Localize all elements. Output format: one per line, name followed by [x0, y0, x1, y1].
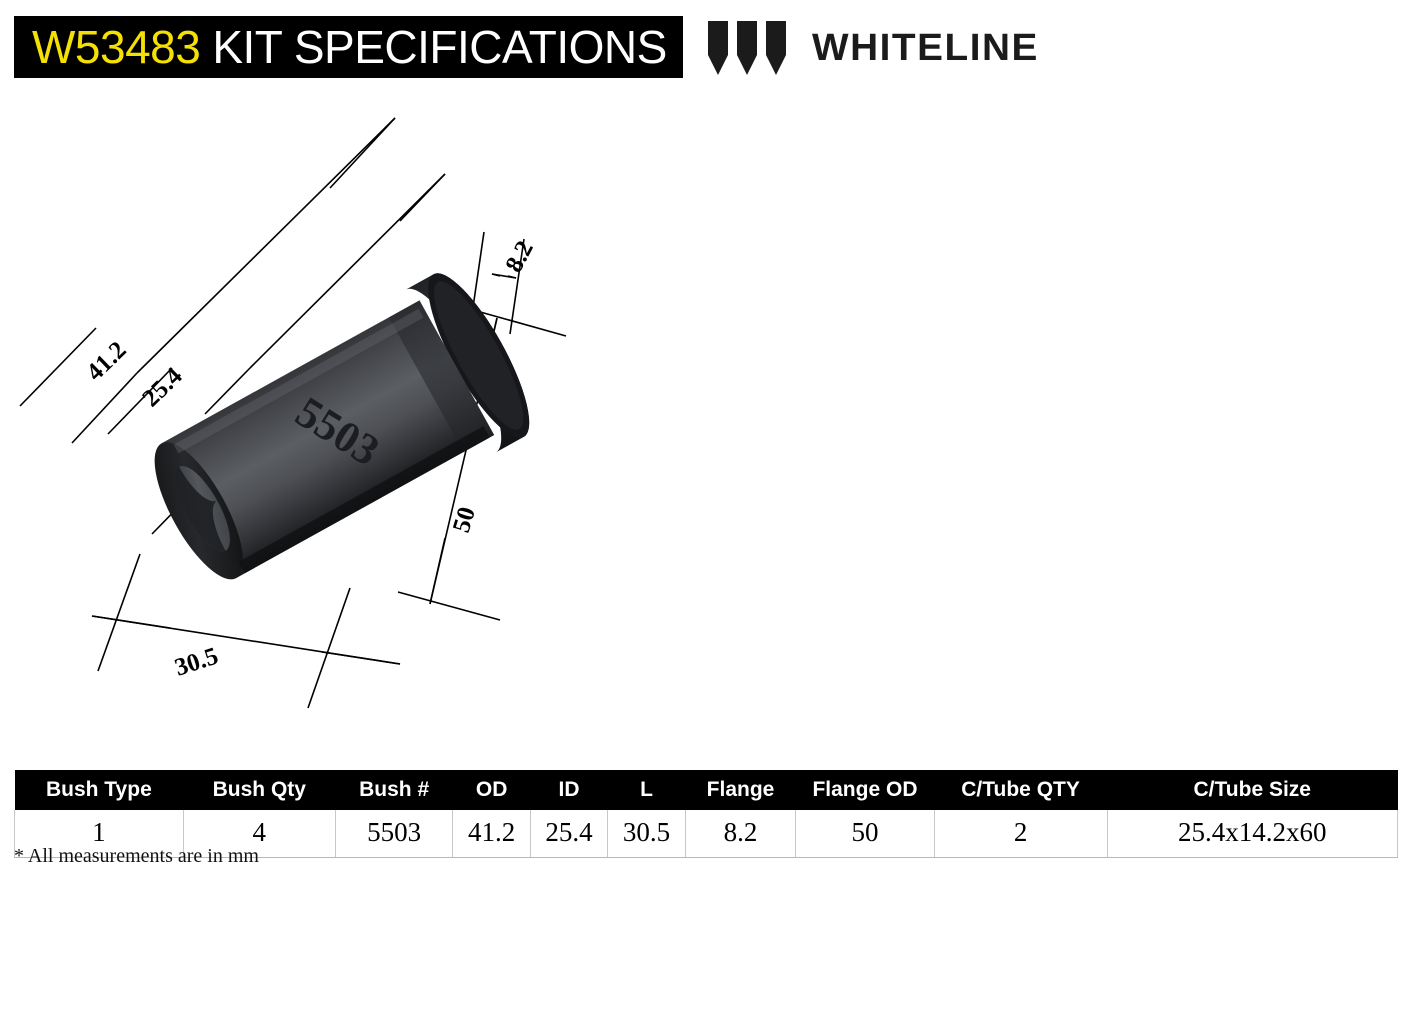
cell-id: 25.4 — [530, 810, 607, 858]
column-header-bush-number: Bush # — [335, 770, 453, 810]
dimension-length: 30.5 — [92, 554, 400, 708]
page-title: KIT SPECIFICATIONS — [212, 24, 666, 70]
dimension-flange-od-label: 50 — [448, 504, 481, 536]
dimension-id-label: 25.4 — [137, 362, 188, 412]
column-header-bush-type: Bush Type — [15, 770, 184, 810]
column-header-flange-od: Flange OD — [796, 770, 934, 810]
cell-flange: 8.2 — [685, 810, 796, 858]
cell-bush-number: 5503 — [335, 810, 453, 858]
cell-ctube-size: 25.4x14.2x60 — [1107, 810, 1398, 858]
bushing-diagram: 41.2 25.4 30.5 8.2 — [0, 96, 700, 716]
cell-od: 41.2 — [453, 810, 530, 858]
column-header-bush-qty: Bush Qty — [183, 770, 335, 810]
page-header: W53483 KIT SPECIFICATIONS WHITELINE — [0, 0, 1410, 100]
whiteline-three-bar-logo-icon — [706, 19, 790, 77]
brand-logo: WHITELINE — [706, 20, 1034, 76]
brand-name: WHITELINE — [812, 29, 1039, 67]
cell-flange-od: 50 — [796, 810, 934, 858]
title-bar: W53483 KIT SPECIFICATIONS — [14, 16, 683, 78]
dimension-od-label: 41.2 — [81, 337, 131, 387]
cell-ctube-qty: 2 — [934, 810, 1107, 858]
column-header-l: L — [608, 770, 685, 810]
column-header-flange: Flange — [685, 770, 796, 810]
measurement-footnote: * All measurements are in mm — [14, 845, 259, 868]
column-header-ctube-qty: C/Tube QTY — [934, 770, 1107, 810]
column-header-od: OD — [453, 770, 530, 810]
table-header-row: Bush Type Bush Qty Bush # OD ID L Flange… — [15, 770, 1398, 810]
column-header-id: ID — [530, 770, 607, 810]
part-number: W53483 — [32, 24, 200, 70]
dimension-flange-thickness-label: 8.2 — [500, 237, 539, 277]
technical-drawing: 41.2 25.4 30.5 8.2 — [0, 96, 700, 716]
cell-l: 30.5 — [608, 810, 685, 858]
column-header-ctube-size: C/Tube Size — [1107, 770, 1398, 810]
dimension-length-label: 30.5 — [172, 643, 222, 682]
